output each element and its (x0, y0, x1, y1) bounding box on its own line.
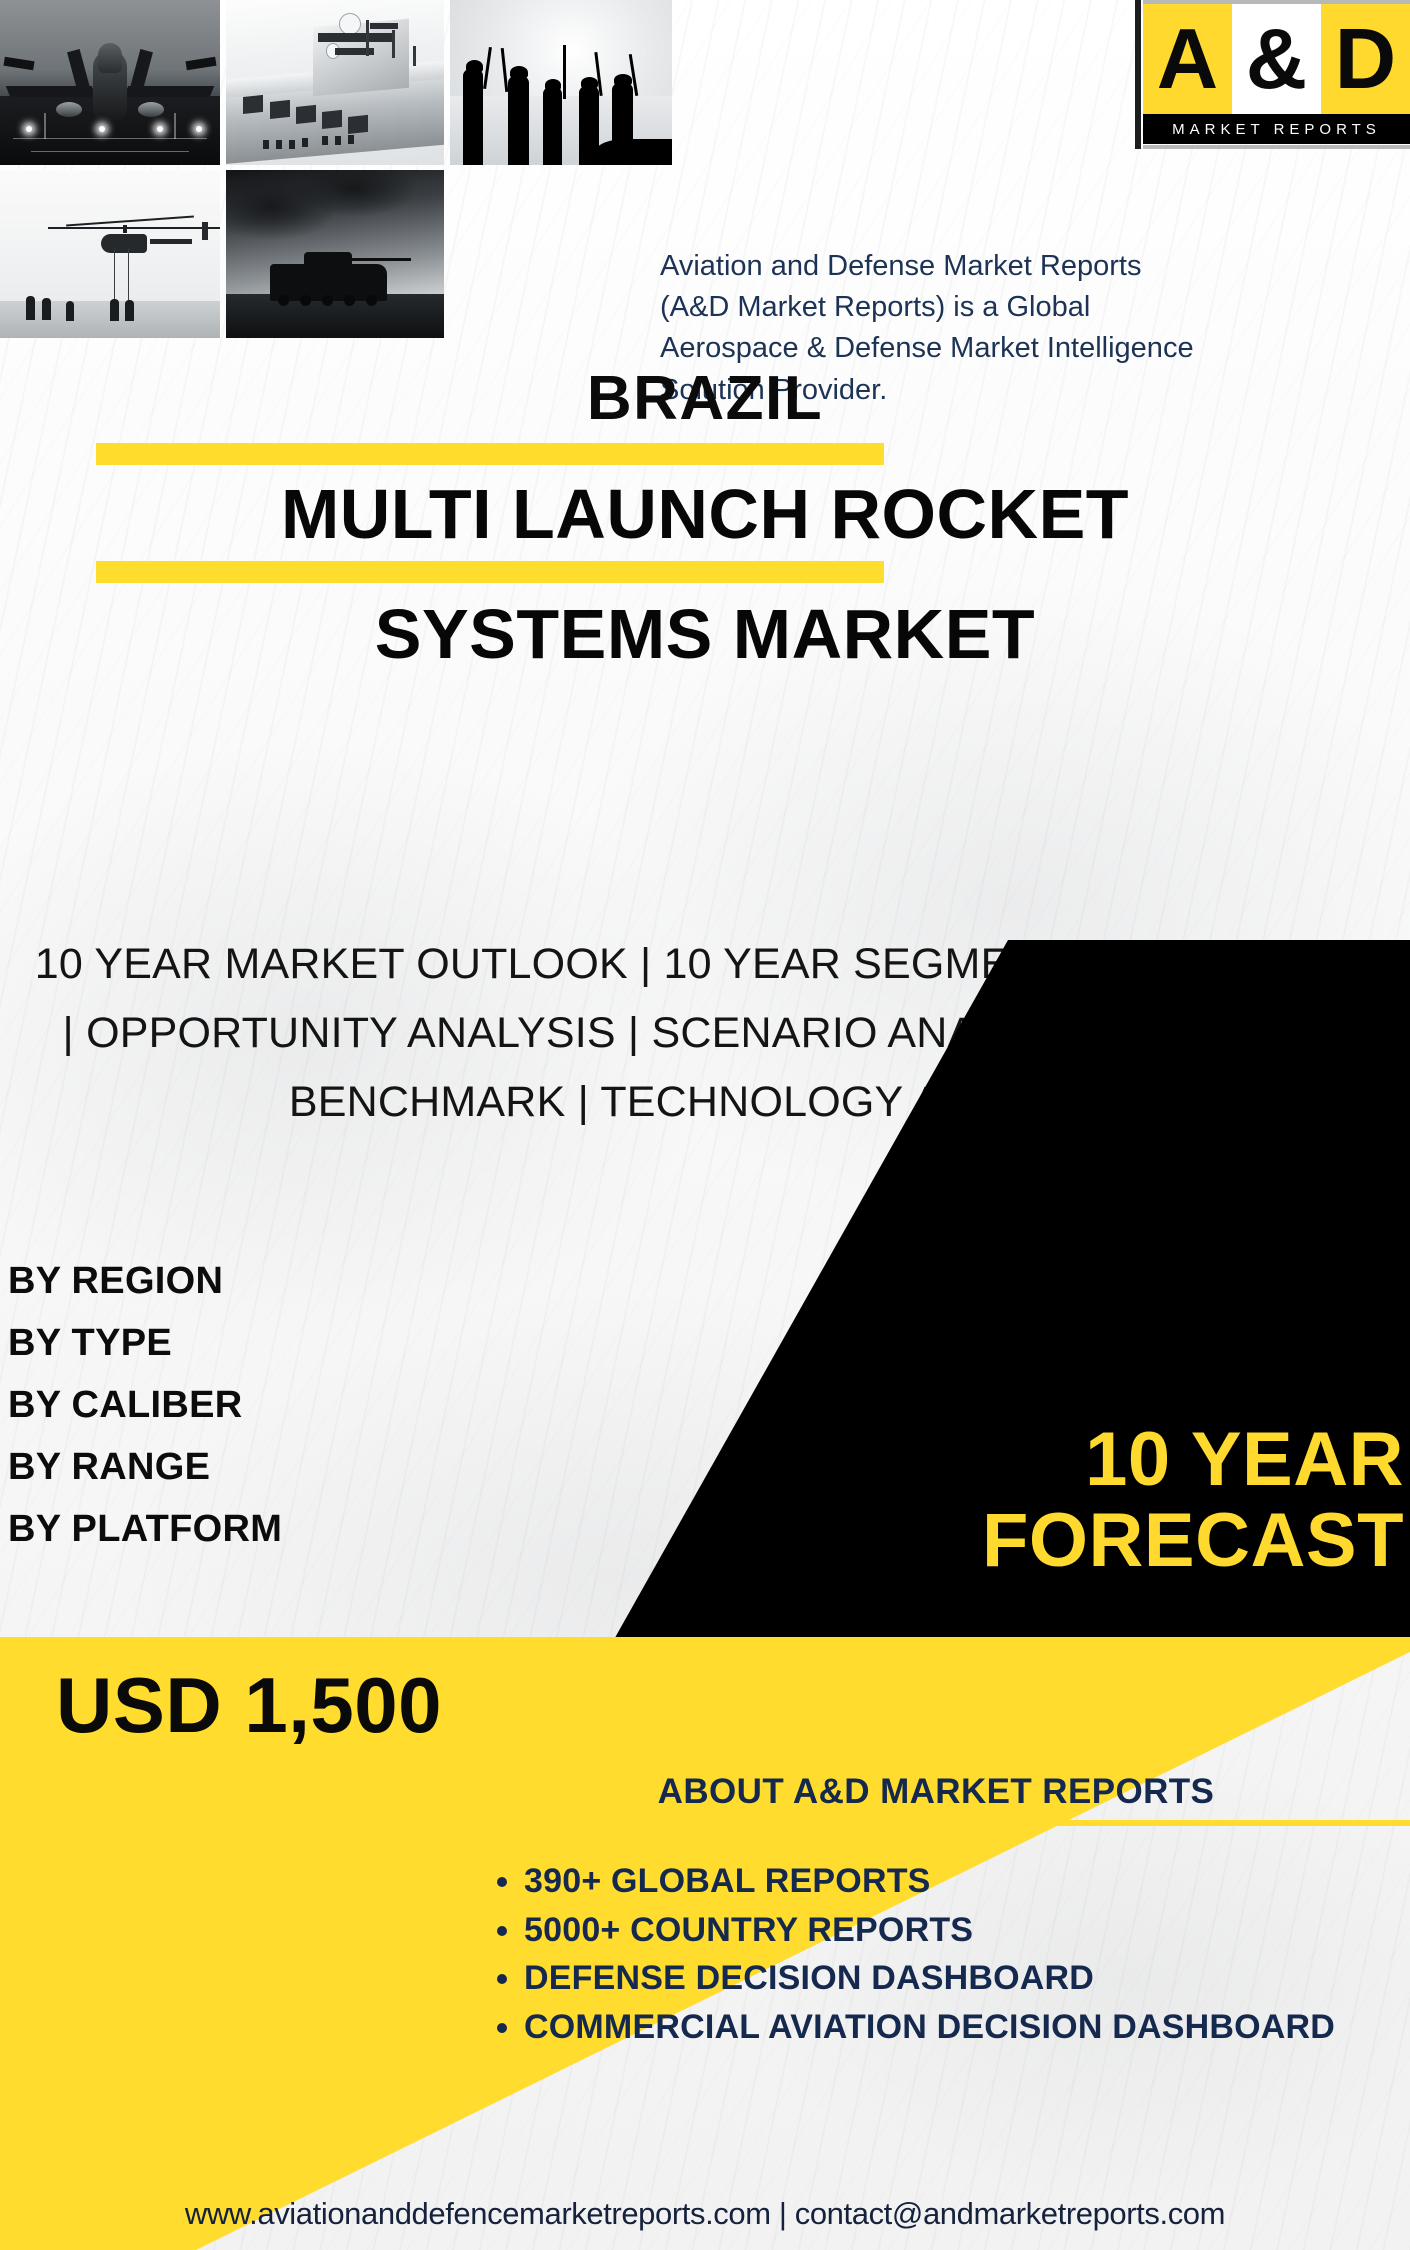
about-bullet-aviation-dashboard: COMMERCIAL AVIATION DECISION DASHBOARD (524, 2006, 1410, 2049)
about-underline (462, 1820, 1410, 1826)
price-label: USD 1,500 (56, 1660, 616, 1751)
title-accent-bar-top (96, 443, 884, 465)
about-bullet-country-reports: 5000+ COUNTRY REPORTS (524, 1909, 1410, 1952)
title-line-2: SYSTEMS MARKET (0, 591, 1410, 671)
photo-strip (0, 0, 672, 338)
about-bullet-defense-dashboard: DEFENSE DECISION DASHBOARD (524, 1957, 1410, 2000)
logo-letter-a: A (1143, 4, 1232, 114)
brand-logo: A & D MARKET REPORTS (1135, 0, 1410, 153)
title-country: BRAZIL (0, 360, 1410, 435)
segment-item-region: BY REGION (4, 1250, 524, 1312)
forecast-line-1: 10 YEAR (790, 1420, 1404, 1501)
logo-tagline: MARKET REPORTS (1172, 121, 1381, 138)
segment-item-caliber: BY CALIBER (4, 1374, 524, 1436)
aircraft-carrier-photo (226, 0, 444, 165)
logo-letter-d: D (1321, 4, 1410, 114)
poster-root: A & D MARKET REPORTS Aviation and Defens… (0, 0, 1410, 2250)
report-title-block: BRAZIL MULTI LAUNCH ROCKET SYSTEMS MARKE… (0, 360, 1410, 671)
footer-bar: www.aviationanddefencemarketreports.com … (0, 2178, 1410, 2250)
company-intro-line-1: Aviation and Defense Market Reports (660, 246, 1400, 287)
about-section: ABOUT A&D MARKET REPORTS 390+ GLOBAL REP… (462, 1772, 1410, 2054)
report-subtitle: 10 YEAR MARKET OUTLOOK | 10 YEAR SEGMENT… (30, 930, 1380, 1136)
logo-left-edge (1135, 0, 1141, 149)
forecast-line-2: FORECAST (790, 1501, 1404, 1582)
fighter-jet-photo (0, 0, 220, 165)
logo-letter-tiles: A & D (1143, 4, 1410, 114)
about-bullet-list: 390+ GLOBAL REPORTS 5000+ COUNTRY REPORT… (524, 1860, 1410, 2048)
armored-vehicle-photo (226, 170, 444, 338)
logo-bottom-rule (1143, 145, 1410, 149)
logo-tagline-bar: MARKET REPORTS (1143, 114, 1410, 144)
logo-letter-ampersand: & (1232, 4, 1321, 114)
segmentation-list: BY REGION BY TYPE BY CALIBER BY RANGE BY… (4, 1250, 524, 1560)
segment-item-range: BY RANGE (4, 1436, 524, 1498)
helicopter-photo (0, 170, 220, 338)
segment-item-type: BY TYPE (4, 1312, 524, 1374)
soldiers-photo (450, 0, 672, 165)
segment-item-platform: BY PLATFORM (4, 1498, 524, 1560)
forecast-callout: 10 YEAR FORECAST (790, 1420, 1410, 1581)
footer-contact-text: www.aviationanddefencemarketreports.com … (185, 2196, 1225, 2232)
about-heading: ABOUT A&D MARKET REPORTS (462, 1772, 1410, 1820)
title-accent-bar-bottom (96, 561, 884, 583)
company-intro-line-2: (A&D Market Reports) is a Global (660, 287, 1400, 328)
title-line-1: MULTI LAUNCH ROCKET (0, 473, 1410, 553)
about-bullet-global-reports: 390+ GLOBAL REPORTS (524, 1860, 1410, 1903)
